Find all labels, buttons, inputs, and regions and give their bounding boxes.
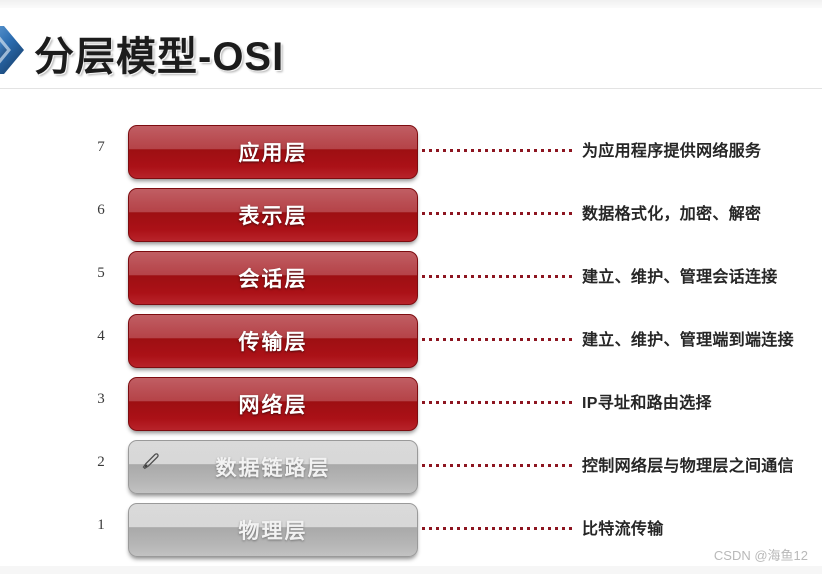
dotted-connector (422, 527, 572, 530)
dotted-connector (422, 149, 572, 152)
osi-layer-stack: 7应用层为应用程序提供网络服务6表示层数据格式化，加密、解密5会话层建立、维护、… (0, 118, 822, 559)
dotted-connector (422, 464, 572, 467)
layer-number: 5 (92, 265, 110, 282)
osi-layer-row: 3网络层IP寻址和路由选择 (0, 370, 822, 433)
dotted-connector (422, 401, 572, 404)
dotted-connector (422, 338, 572, 341)
osi-layer-row: 7应用层为应用程序提供网络服务 (0, 118, 822, 181)
layer-bar-6[interactable]: 表示层 (128, 188, 418, 242)
osi-layer-row: 5会话层建立、维护、管理会话连接 (0, 244, 822, 307)
page-title: 分层模型-OSI (34, 24, 284, 82)
layer-description: 建立、维护、管理端到端连接 (582, 326, 794, 350)
layer-number: 2 (92, 454, 110, 471)
layer-description: 比特流传输 (582, 515, 664, 539)
osi-layer-row: 1物理层比特流传输 (0, 496, 822, 559)
chevron-badge-icon (0, 22, 30, 78)
layer-name: 表示层 (129, 189, 417, 241)
osi-layer-row: 6表示层数据格式化，加密、解密 (0, 181, 822, 244)
layer-description: 数据格式化，加密、解密 (582, 200, 761, 224)
layer-bar-3[interactable]: 网络层 (128, 377, 418, 431)
layer-description: IP寻址和路由选择 (582, 389, 712, 413)
bottom-edge-band (0, 566, 822, 574)
layer-description: 为应用程序提供网络服务 (582, 137, 761, 161)
layer-name: 传输层 (129, 315, 417, 367)
header-divider (0, 88, 822, 89)
top-edge-band (0, 0, 822, 8)
watermark: CSDN @海鱼12 (714, 545, 808, 564)
slide-header: 分层模型-OSI (0, 8, 822, 90)
layer-bar-5[interactable]: 会话层 (128, 251, 418, 305)
layer-bar-4[interactable]: 传输层 (128, 314, 418, 368)
layer-bar-7[interactable]: 应用层 (128, 125, 418, 179)
slide-canvas: 分层模型-OSI 7应用层为应用程序提供网络服务6表示层数据格式化，加密、解密5… (0, 0, 822, 574)
layer-name: 数据链路层 (129, 441, 417, 493)
layer-description: 控制网络层与物理层之间通信 (582, 452, 794, 476)
layer-number: 3 (92, 391, 110, 408)
osi-layer-row: 2数据链路层控制网络层与物理层之间通信 (0, 433, 822, 496)
layer-name: 网络层 (129, 378, 417, 430)
layer-number: 6 (92, 202, 110, 219)
layer-number: 1 (92, 517, 110, 534)
osi-layer-row: 4传输层建立、维护、管理端到端连接 (0, 307, 822, 370)
layer-number: 4 (92, 328, 110, 345)
layer-bar-2[interactable]: 数据链路层 (128, 440, 418, 494)
dotted-connector (422, 275, 572, 278)
layer-bar-1[interactable]: 物理层 (128, 503, 418, 557)
layer-number: 7 (92, 139, 110, 156)
layer-name: 物理层 (129, 504, 417, 556)
layer-description: 建立、维护、管理会话连接 (582, 263, 778, 287)
dotted-connector (422, 212, 572, 215)
layer-name: 应用层 (129, 126, 417, 178)
layer-name: 会话层 (129, 252, 417, 304)
